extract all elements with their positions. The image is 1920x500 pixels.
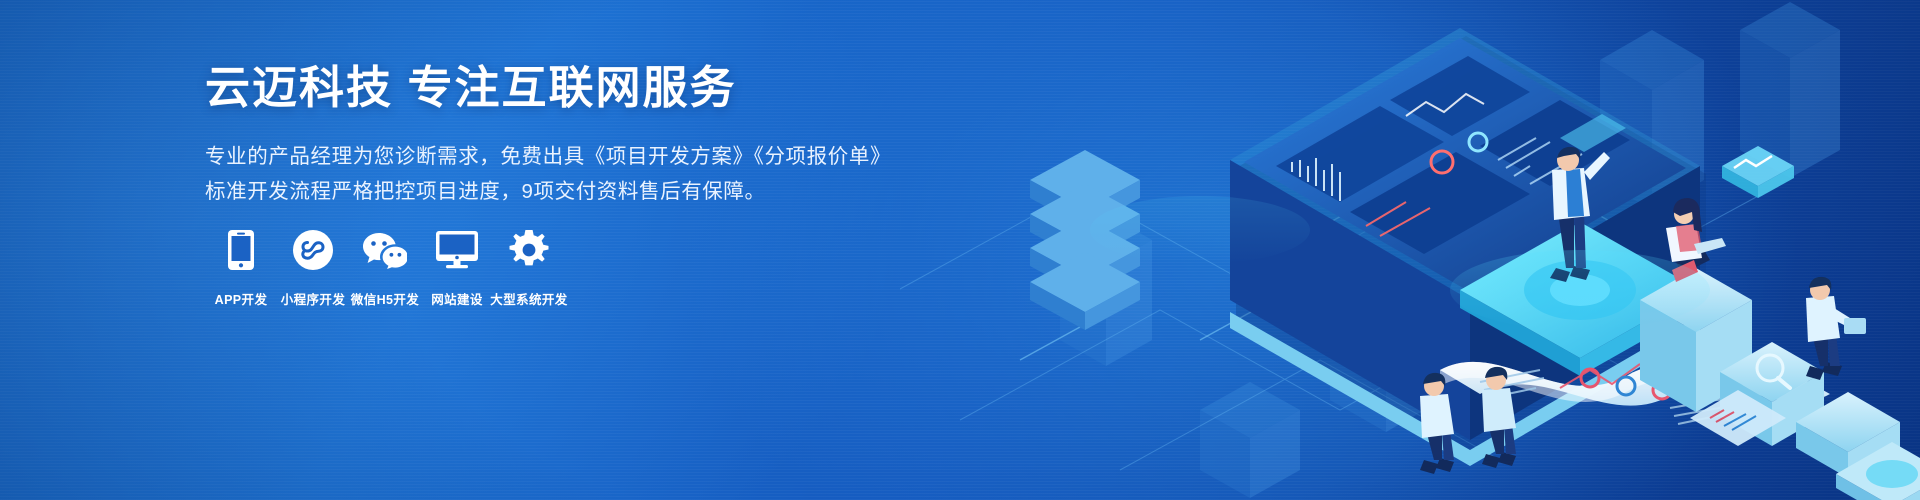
service-label: 微信H5开发	[351, 289, 419, 308]
monitor-icon	[436, 228, 478, 272]
promo-banner: 云迈科技 专注互联网服务 专业的产品经理为您诊断需求，免费出具《项目开发方案》《…	[0, 0, 1920, 500]
wechat-icon	[363, 228, 407, 272]
service-item-mini-program[interactable]: 小程序开发	[277, 228, 349, 308]
mobile-phone-icon	[228, 228, 254, 272]
service-label: 小程序开发	[281, 289, 346, 308]
service-label: APP开发	[215, 289, 268, 308]
subtitle-line-1: 专业的产品经理为您诊断需求，免费出具《项目开发方案》《分项报价单》	[205, 140, 925, 173]
service-label: 网站建设	[431, 289, 483, 308]
subtitle-line-2: 标准开发流程严格把控项目进度，9项交付资料售后有保障。	[205, 175, 925, 208]
service-label: 大型系统开发	[490, 289, 567, 308]
illustration-isometric-data-analytics	[900, 0, 1920, 500]
service-item-website[interactable]: 网站建设	[421, 228, 493, 308]
service-item-app[interactable]: APP开发	[205, 228, 277, 308]
service-item-large-system[interactable]: 大型系统开发	[493, 228, 565, 308]
service-item-wechat-h5[interactable]: 微信H5开发	[349, 228, 421, 308]
page-title: 云迈科技 专注互联网服务	[205, 62, 925, 114]
banner-text-block: 云迈科技 专注互联网服务 专业的产品经理为您诊断需求，免费出具《项目开发方案》《…	[205, 62, 925, 208]
gear-icon	[509, 228, 549, 272]
service-list: APP开发 小程序开发 微信	[205, 228, 565, 308]
mini-program-icon	[293, 228, 333, 272]
